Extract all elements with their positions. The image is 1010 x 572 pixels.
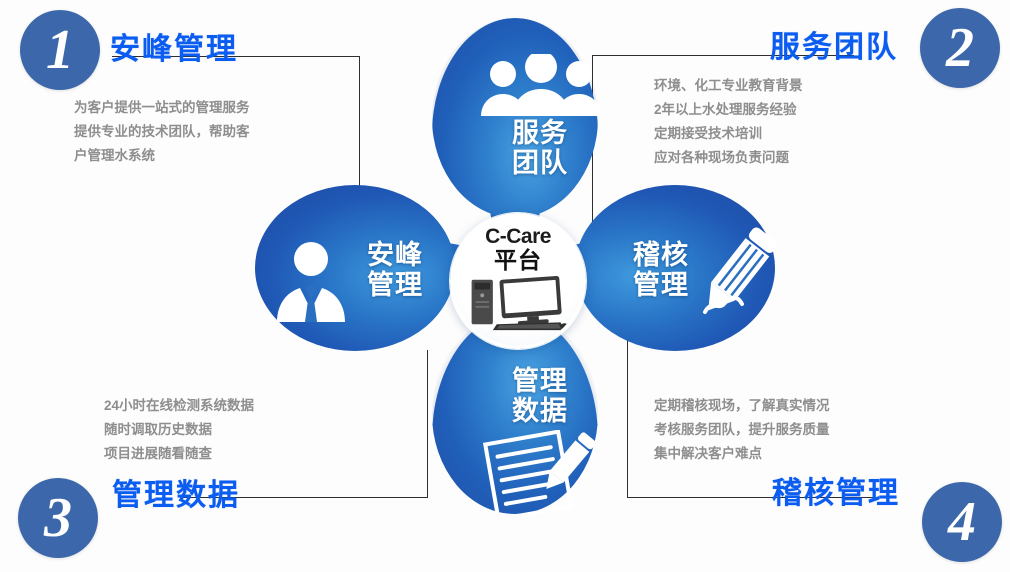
section-body-3-line-2: 随时调取历史数据	[104, 418, 254, 442]
section-title-3: 管理数据	[112, 470, 240, 514]
number-badge-2: 2	[920, 8, 1000, 88]
petal-label-management-data: 管理 数据	[485, 366, 595, 426]
petal-label-audit-management: 稽核 管理	[607, 240, 715, 300]
number-badge-2-label: 2	[946, 20, 974, 76]
people-group-icon	[471, 54, 611, 116]
section-body-1-line-1: 为客户提供一站式的管理服务	[74, 96, 250, 120]
section-body-1-line-2: 提供专业的技术团队，帮助客	[74, 120, 250, 144]
platform-hub-title: C-Care	[485, 226, 551, 247]
section-body-1-line-3: 户管理水系统	[74, 144, 250, 168]
document-pen-icon	[477, 430, 597, 516]
number-badge-1: 1	[20, 10, 100, 90]
section-title-2: 服务团队	[770, 22, 898, 66]
section-title-4: 稽核管理	[772, 468, 900, 512]
number-badge-4-label: 4	[948, 494, 976, 550]
section-body-3-line-1: 24小时在线检测系统数据	[104, 394, 254, 418]
number-badge-1-label: 1	[46, 22, 74, 78]
number-badge-3: 3	[18, 478, 98, 558]
section-body-1: 为客户提供一站式的管理服务 提供专业的技术团队，帮助客 户管理水系统	[74, 96, 250, 168]
petal-label-anfeng-management: 安峰 管理	[341, 240, 449, 300]
number-badge-4: 4	[922, 482, 1002, 562]
number-badge-3-label: 3	[44, 490, 72, 546]
platform-hub-subtitle: 平台	[494, 248, 542, 272]
section-title-1: 安峰管理	[110, 24, 238, 68]
flower-diagram: 服务 团队 稽核 管理 管理 数据 安峰 管理 C-Care 平台	[255, 18, 775, 518]
desktop-computer-icon	[466, 274, 570, 337]
section-body-3: 24小时在线检测系统数据 随时调取历史数据 项目进展随看随查	[104, 394, 254, 466]
infographic-canvas: 1 2 3 4 安峰管理 服务团队 管理数据 稽核管理 为客户提供一站式的管理服…	[0, 0, 1010, 572]
petal-label-service-team: 服务 团队	[485, 118, 595, 178]
platform-hub[interactable]: C-Care 平台	[450, 213, 586, 349]
section-body-3-line-3: 项目进展随看随查	[104, 442, 254, 466]
